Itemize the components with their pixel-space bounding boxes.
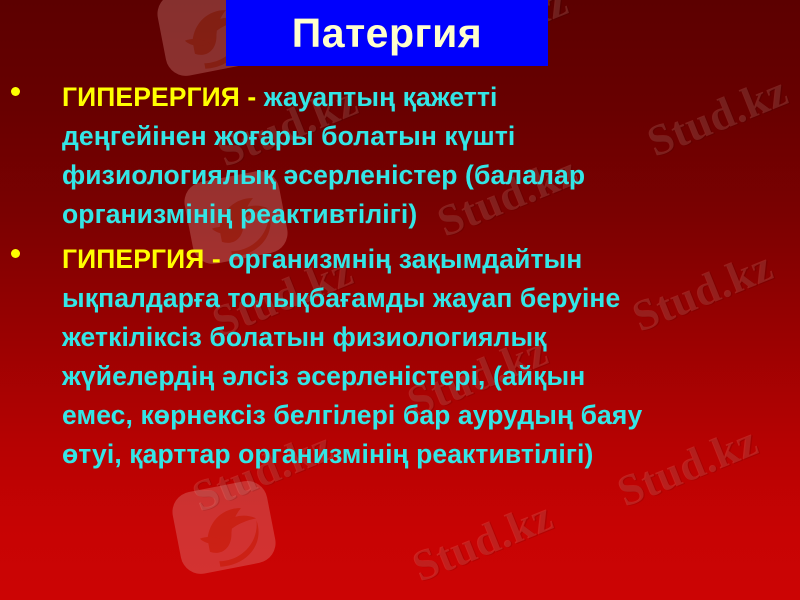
- bullet-line: физиологиялық әсерленістер (балалар: [62, 156, 800, 195]
- bullet-keyword: ГИПЕРЕРГИЯ: [62, 82, 240, 112]
- watermark-logo-bottom-left: [162, 470, 290, 586]
- bullet-line: өтуі, қарттар организмінің реактивтілігі…: [62, 435, 800, 474]
- bullet-marker-icon: [11, 87, 20, 96]
- bullet-item: ГИПЕРГИЯ - организмнің зақымдайтын ықпал…: [0, 240, 800, 474]
- bullet-line: ықпалдарға толықбағамды жауап беруіне: [62, 279, 800, 318]
- slide-title: Патергия: [292, 13, 482, 54]
- presentation-slide: Stud.kz Stud.kz Stud.kz Stud.kz Stud.kz …: [0, 0, 800, 600]
- bullet-marker-icon: [11, 249, 20, 258]
- bullet-line-text: организмнің зақымдайтын: [228, 244, 582, 274]
- bullet-line: жүйелердің әлсіз әсерленістері, (айқын: [62, 357, 800, 396]
- bullet-line: ГИПЕРЕРГИЯ - жауаптың қажетті: [62, 78, 800, 117]
- bullet-separator: -: [240, 82, 264, 112]
- slide-body: ГИПЕРЕРГИЯ - жауаптың қажетті деңгейінен…: [0, 78, 800, 480]
- bullet-text: ГИПЕРЕРГИЯ - жауаптың қажетті деңгейінен…: [62, 78, 800, 234]
- bullet-line: ГИПЕРГИЯ - организмнің зақымдайтын: [62, 240, 800, 279]
- bullet-keyword: ГИПЕРГИЯ: [62, 244, 204, 274]
- bullet-line: жеткіліксіз болатын физиологиялық: [62, 318, 800, 357]
- bullet-line-text: жауаптың қажетті: [264, 82, 498, 112]
- bullet-line: организмінің реактивтілігі): [62, 195, 800, 234]
- bullet-line: емес, көрнексіз белгілері бар аурудың ба…: [62, 396, 800, 435]
- bullet-separator: -: [204, 244, 228, 274]
- watermark-text: Stud.kz: [405, 490, 560, 592]
- bullet-item: ГИПЕРЕРГИЯ - жауаптың қажетті деңгейінен…: [0, 78, 800, 234]
- slide-title-box: Патергия: [226, 0, 548, 66]
- bullet-line: деңгейінен жоғары болатын күшті: [62, 117, 800, 156]
- bullet-text: ГИПЕРГИЯ - организмнің зақымдайтын ықпал…: [62, 240, 800, 474]
